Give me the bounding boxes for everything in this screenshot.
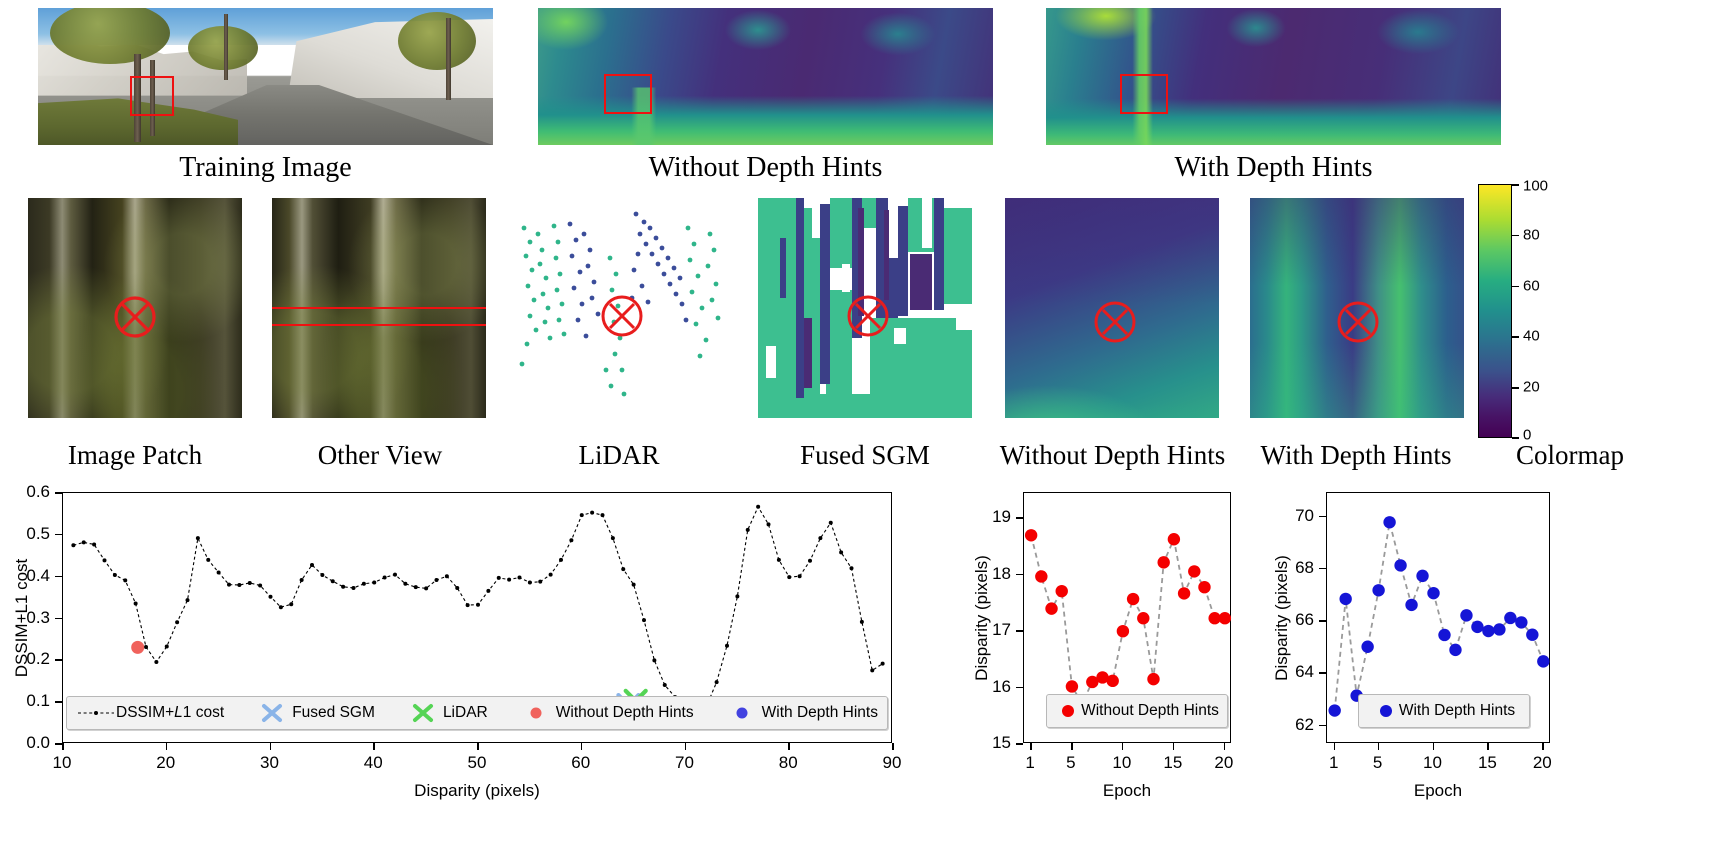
marker-circle-x-image-patch-svg [108, 290, 162, 344]
x-tick [1378, 743, 1380, 750]
x-tick-label: 80 [779, 753, 798, 773]
y-tick-label: 19 [992, 507, 1011, 527]
y-tick [55, 534, 62, 536]
wdh-xlabel: Epoch [1023, 781, 1231, 801]
x-tick-label: 10 [1423, 753, 1442, 773]
y-tick [55, 743, 62, 745]
y-tick-label: 0.0 [26, 733, 50, 753]
x-tick [1224, 743, 1226, 750]
panel-colormap: 100 80 60 40 20 0 [1478, 184, 1588, 438]
caption-with-depth-hints-depthmap: With Depth Hints [1046, 152, 1501, 184]
wdh-ylabel: Disparity (pixels) [972, 518, 992, 718]
cost-volume-ylabel: DSSIM+L1 cost [12, 518, 32, 718]
x-tick-label: 15 [1163, 753, 1182, 773]
wdhb-ylabel: Disparity (pixels) [1272, 518, 1292, 718]
x-tick-label: 15 [1478, 753, 1497, 773]
caption-other-view: Other View [265, 440, 495, 471]
caption-fused-sgm: Fused SGM [758, 440, 972, 471]
colorbar-tick-20 [1512, 387, 1519, 389]
legend-label: DSSIM+L1 cost [116, 704, 224, 722]
y-tick [1016, 630, 1023, 632]
caption-training-image: Training Image [38, 152, 493, 184]
y-tick [55, 701, 62, 703]
epipolar-line-bottom [272, 324, 486, 326]
legend-marker-o-icon [516, 703, 556, 723]
x-tick [62, 743, 64, 750]
x-tick-label: 40 [364, 753, 383, 773]
legend-item: With Depth Hints [722, 703, 878, 723]
panel-without-depth-hints-depthmap [538, 8, 993, 145]
fused-sgm-segments [758, 198, 972, 418]
colorbar-label-60: 60 [1523, 277, 1540, 294]
y-tick-label: 18 [992, 564, 1011, 584]
x-tick-label: 5 [1066, 753, 1075, 773]
colorbar-gradient [1478, 184, 1512, 438]
wdhb-ylabel-text: Disparity (pixels) [1272, 555, 1291, 681]
x-tick [788, 743, 790, 750]
y-tick-label: 68 [1295, 558, 1314, 578]
x-tick-label: 60 [571, 753, 590, 773]
legend-marker-x-icon [403, 703, 443, 723]
x-tick [1542, 743, 1544, 750]
depthmap-hints-content [1046, 8, 1501, 145]
colorbar-label-80: 80 [1523, 226, 1540, 243]
panel-with-depth-hints-depthmap [1046, 8, 1501, 145]
epipolar-line-top [272, 307, 486, 309]
y-tick [1319, 620, 1326, 622]
legend-marker-dot-icon [1055, 701, 1081, 721]
caption-image-patch: Image Patch [20, 440, 250, 471]
wdhb-legend: With Depth Hints [1358, 694, 1530, 728]
legend-item: Fused SGM [252, 703, 375, 723]
tree-trunk-far [446, 18, 451, 100]
x-tick-label: 50 [468, 753, 487, 773]
lidar-points [512, 198, 726, 418]
foliage-1 [50, 8, 170, 64]
x-tick [166, 743, 168, 750]
x-tick [270, 743, 272, 750]
y-tick [1319, 725, 1326, 727]
y-tick [1319, 568, 1326, 570]
x-tick [1173, 743, 1175, 750]
x-tick-label: 20 [1533, 753, 1552, 773]
panel-fused-sgm [758, 198, 972, 418]
marker-circle-x-with-depth-hints [1330, 294, 1386, 350]
y-tick-label: 64 [1295, 662, 1314, 682]
panel-with-depth-hints-patch [1250, 198, 1464, 418]
chart-without-depth-hints-epochs: 151015201516171819 Epoch Disparity (pixe… [960, 486, 1250, 862]
depthmap-no-hints-content [538, 8, 993, 145]
x-tick [1030, 743, 1032, 750]
roi-box-training-image [130, 76, 174, 116]
wdhb-xlabel: Epoch [1326, 781, 1550, 801]
y-tick-label: 15 [992, 733, 1011, 753]
legend-label: Without Depth Hints [556, 704, 694, 722]
x-tick-label: 20 [1214, 753, 1233, 773]
y-tick [1016, 743, 1023, 745]
colorbar-tick-100 [1512, 184, 1519, 186]
legend-label: Without Depth Hints [1081, 702, 1219, 720]
x-tick [892, 743, 894, 750]
cost-volume-legend: DSSIM+L1 costFused SGMLiDARWithout Depth… [66, 696, 888, 730]
y-tick [55, 618, 62, 620]
legend-marker-x-icon [252, 703, 292, 723]
legend-item: LiDAR [403, 703, 488, 723]
cost-volume-ylabel-text: DSSIM+L1 cost [12, 559, 31, 678]
x-tick-label: 70 [675, 753, 694, 773]
caption-without-depth-hints-depthmap: Without Depth Hints [538, 152, 993, 184]
legend-item: DSSIM+L1 cost [76, 703, 224, 723]
legend-item: With Depth Hints [1373, 701, 1515, 721]
x-tick [477, 743, 479, 750]
y-tick-label: 70 [1295, 506, 1314, 526]
roi-box-with-depth-hints [1120, 74, 1168, 114]
caption-lidar: LiDAR [512, 440, 726, 471]
chart-with-depth-hints-epochs: 151015206264666870 Epoch Disparity (pixe… [1258, 486, 1558, 862]
y-tick [55, 576, 62, 578]
legend-item: Without Depth Hints [1055, 701, 1219, 721]
cost-volume-xlabel: Disparity (pixels) [62, 781, 892, 801]
caption-colormap: Colormap [1470, 440, 1670, 471]
colorbar-tick-0 [1512, 437, 1519, 439]
chart-cost-volume: 1020304050607080900.00.10.20.30.40.50.6 … [0, 486, 920, 862]
wdh-ylabel-text: Disparity (pixels) [972, 555, 991, 681]
caption-without-depth-hints-patch: Without Depth Hints [985, 440, 1240, 471]
y-tick-label: 66 [1295, 610, 1314, 630]
x-tick-label: 5 [1373, 753, 1382, 773]
legend-marker-dot-icon [1373, 701, 1399, 721]
colorbar-tick-40 [1512, 336, 1519, 338]
x-tick-label: 1 [1025, 753, 1034, 773]
y-tick [1016, 517, 1023, 519]
x-tick [373, 743, 375, 750]
legend-label: With Depth Hints [1399, 702, 1515, 720]
wdh-legend: Without Depth Hints [1046, 694, 1228, 728]
marker-circle-x-without-depth-hints [1087, 294, 1143, 350]
x-tick [1071, 743, 1073, 750]
legend-marker-o-icon [722, 703, 762, 723]
x-tick [1334, 743, 1336, 750]
y-tick [55, 659, 62, 661]
x-tick-label: 90 [883, 753, 902, 773]
roi-box-without-depth-hints [604, 74, 652, 114]
x-tick [1122, 743, 1124, 750]
figure-root: Training Image Without Depth Hints With … [0, 0, 1719, 862]
legend-label: LiDAR [443, 704, 488, 722]
x-tick [581, 743, 583, 750]
x-tick-label: 10 [53, 753, 72, 773]
y-tick-label: 16 [992, 677, 1011, 697]
y-tick [1319, 672, 1326, 674]
legend-label: Fused SGM [292, 704, 375, 722]
y-tick [1016, 687, 1023, 689]
x-tick [1433, 743, 1435, 750]
y-tick [1319, 516, 1326, 518]
colorbar-label-100: 100 [1523, 178, 1548, 195]
x-tick [1487, 743, 1489, 750]
panel-without-depth-hints-patch [1005, 198, 1219, 418]
y-tick [1016, 574, 1023, 576]
y-tick-label: 0.6 [26, 482, 50, 502]
legend-label: With Depth Hints [762, 704, 878, 722]
x-tick-label: 30 [260, 753, 279, 773]
x-tick-label: 1 [1329, 753, 1338, 773]
foliage-3 [398, 12, 476, 70]
y-tick-label: 62 [1295, 715, 1314, 735]
legend-item: Without Depth Hints [516, 703, 694, 723]
tree-trunk-pole [224, 14, 228, 80]
x-tick [685, 743, 687, 750]
caption-with-depth-hints-patch: With Depth Hints [1240, 440, 1472, 471]
panel-other-view [272, 198, 486, 418]
x-tick-label: 20 [156, 753, 175, 773]
colorbar-label-40: 40 [1523, 328, 1540, 345]
colorbar-tick-80 [1512, 235, 1519, 237]
y-tick-label: 17 [992, 620, 1011, 640]
training-image-content [38, 8, 493, 145]
colorbar-tick-60 [1512, 286, 1519, 288]
colorbar-label-20: 20 [1523, 379, 1540, 396]
y-tick [55, 492, 62, 494]
foliage-2 [188, 26, 258, 70]
panel-training-image [38, 8, 493, 145]
depthmap-hints-trunk-stripe [1046, 8, 1501, 145]
x-tick-label: 10 [1112, 753, 1131, 773]
legend-marker-dot-line-icon [76, 703, 116, 723]
panel-lidar [512, 198, 726, 418]
